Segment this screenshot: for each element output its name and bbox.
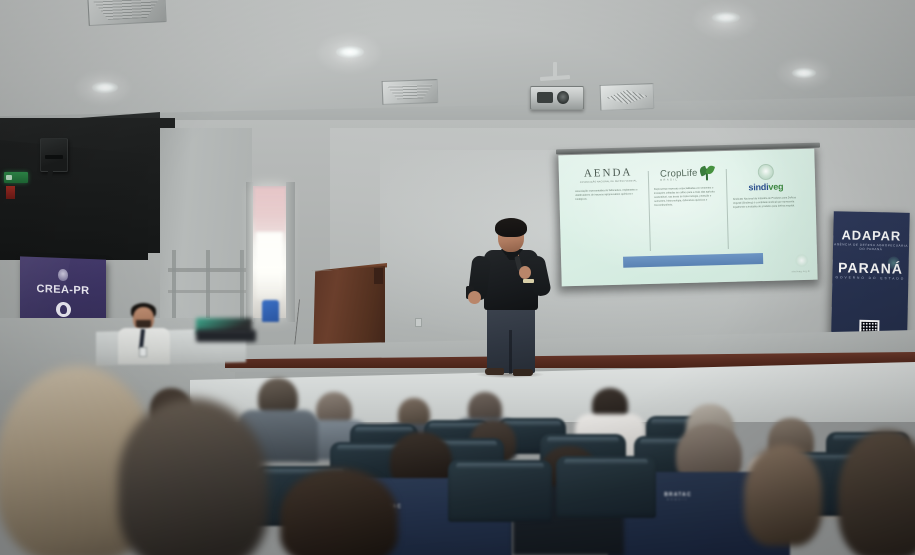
slide-columns: AENDA ASSOCIAÇÃO NACIONAL DE DEFESA VEGE… — [569, 163, 807, 259]
blue-object — [262, 300, 279, 322]
sindiveg-logo-dark: sindi — [748, 182, 768, 193]
hvac-diffuser-icon — [382, 79, 439, 105]
slide-column-aenda: AENDA ASSOCIAÇÃO NACIONAL DE DEFESA VEGE… — [569, 167, 648, 202]
slide-column-sindiveg: sindiveg Sindicato Nacional da Indústria… — [726, 163, 806, 210]
window-curtain — [255, 188, 285, 232]
speaker-hair — [495, 218, 527, 237]
id-badge — [139, 347, 147, 357]
aenda-description: Associação representativa de fabricantes… — [575, 188, 642, 201]
mutua-mark-icon — [56, 302, 71, 318]
speaker-shoe-left — [485, 368, 504, 375]
speaker-shoe-right — [513, 369, 533, 376]
foreground-head-far-right — [744, 444, 822, 546]
window-jamb — [286, 182, 295, 322]
speaker-hand-left — [468, 291, 481, 304]
auditorium-seat — [556, 456, 656, 518]
sindiveg-logo: sindiveg — [732, 181, 799, 193]
bratac-word: BRATAC — [664, 492, 692, 498]
croplife-logo: CropLife BRASIL — [653, 165, 720, 183]
railing-post — [240, 250, 244, 320]
hvac-diffuser-icon — [600, 83, 655, 111]
foreground-head-center — [280, 468, 398, 555]
circular-emblem-icon — [757, 164, 773, 180]
acoustic-panel-lower — [0, 140, 148, 260]
croplife-description: Representa empresas especializadas em se… — [654, 186, 721, 207]
crest-icon — [58, 269, 68, 281]
auditorium-seat — [448, 460, 552, 522]
wristwatch — [523, 279, 534, 283]
parana-title: PARANÁ — [832, 259, 908, 277]
projection-screen: AENDA ASSOCIAÇÃO NACIONAL DE DEFESA VEGE… — [558, 149, 817, 287]
emergency-exit-sign-icon — [4, 172, 28, 183]
aenda-logo: AENDA — [575, 167, 642, 180]
lectern-side — [374, 268, 383, 284]
aenda-logo-subtitle: ASSOCIAÇÃO NACIONAL DE DEFESA VEGETAL — [575, 180, 642, 185]
auditorium-photo: AENDA ASSOCIAÇÃO NACIONAL DE DEFESA VEGE… — [0, 0, 915, 555]
speaker-leg-split — [509, 330, 512, 374]
recessed-downlight-icon — [792, 68, 816, 78]
croplife-logo-text: CropLife — [660, 167, 698, 179]
slide-column-croplife: CropLife BRASIL Representa empresas espe… — [647, 165, 727, 207]
window-glare — [256, 232, 283, 300]
ceiling-projector-icon — [530, 86, 584, 110]
wall-outlet-icon — [415, 318, 422, 327]
adapar-subtitle: AGÊNCIA DE DEFESA AGROPECUÁRIA DO PARANÁ — [833, 242, 909, 252]
wall-speaker-icon — [40, 138, 68, 172]
fire-alarm-icon — [6, 186, 15, 199]
sprout-icon — [699, 165, 713, 181]
sindiveg-logo-accent: veg — [768, 181, 783, 191]
railing-post — [172, 250, 176, 320]
recessed-downlight-icon — [712, 12, 740, 23]
sindiveg-description: Sindicato Nacional da Indústria de Produ… — [733, 196, 800, 209]
bratac-subword: BRASIL — [648, 499, 708, 501]
adapar-title: ADAPAR — [833, 227, 909, 244]
recessed-downlight-icon — [92, 82, 118, 93]
recessed-downlight-icon — [336, 46, 364, 58]
parana-subtitle: GOVERNO DO ESTADO — [832, 275, 908, 281]
bratac-logo-text: BRATAC BRASIL — [648, 492, 708, 501]
hvac-diffuser-icon — [87, 0, 166, 26]
crea-pr-title: CREA-PR — [20, 282, 106, 297]
railing-post — [206, 250, 210, 320]
av-equipment-case — [196, 330, 256, 342]
speaker-hand-right — [519, 266, 531, 279]
